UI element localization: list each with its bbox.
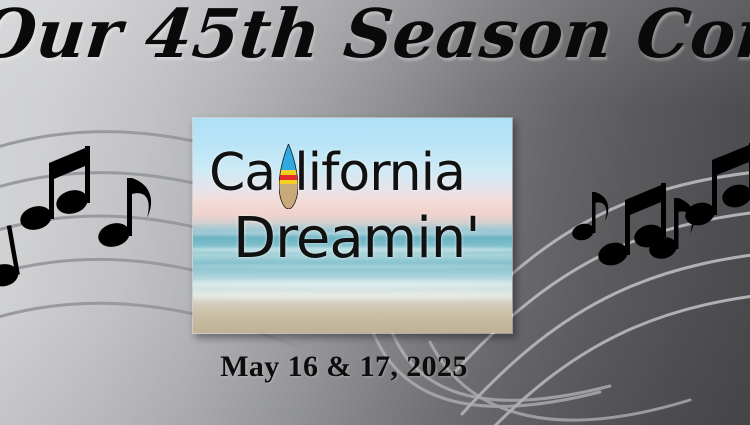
show-card[interactable]: California Dreamin' (192, 117, 513, 334)
show-title-line-1: California (209, 143, 465, 203)
performance-date: May 16 & 17, 2025 (0, 350, 688, 384)
show-title-prefix: Ca (209, 143, 275, 203)
poster-flyer: Our 45th Season Concludes C (0, 0, 750, 425)
show-title-suffix: lifornia (294, 143, 465, 203)
show-title-line-2: Dreamin' (233, 206, 480, 271)
